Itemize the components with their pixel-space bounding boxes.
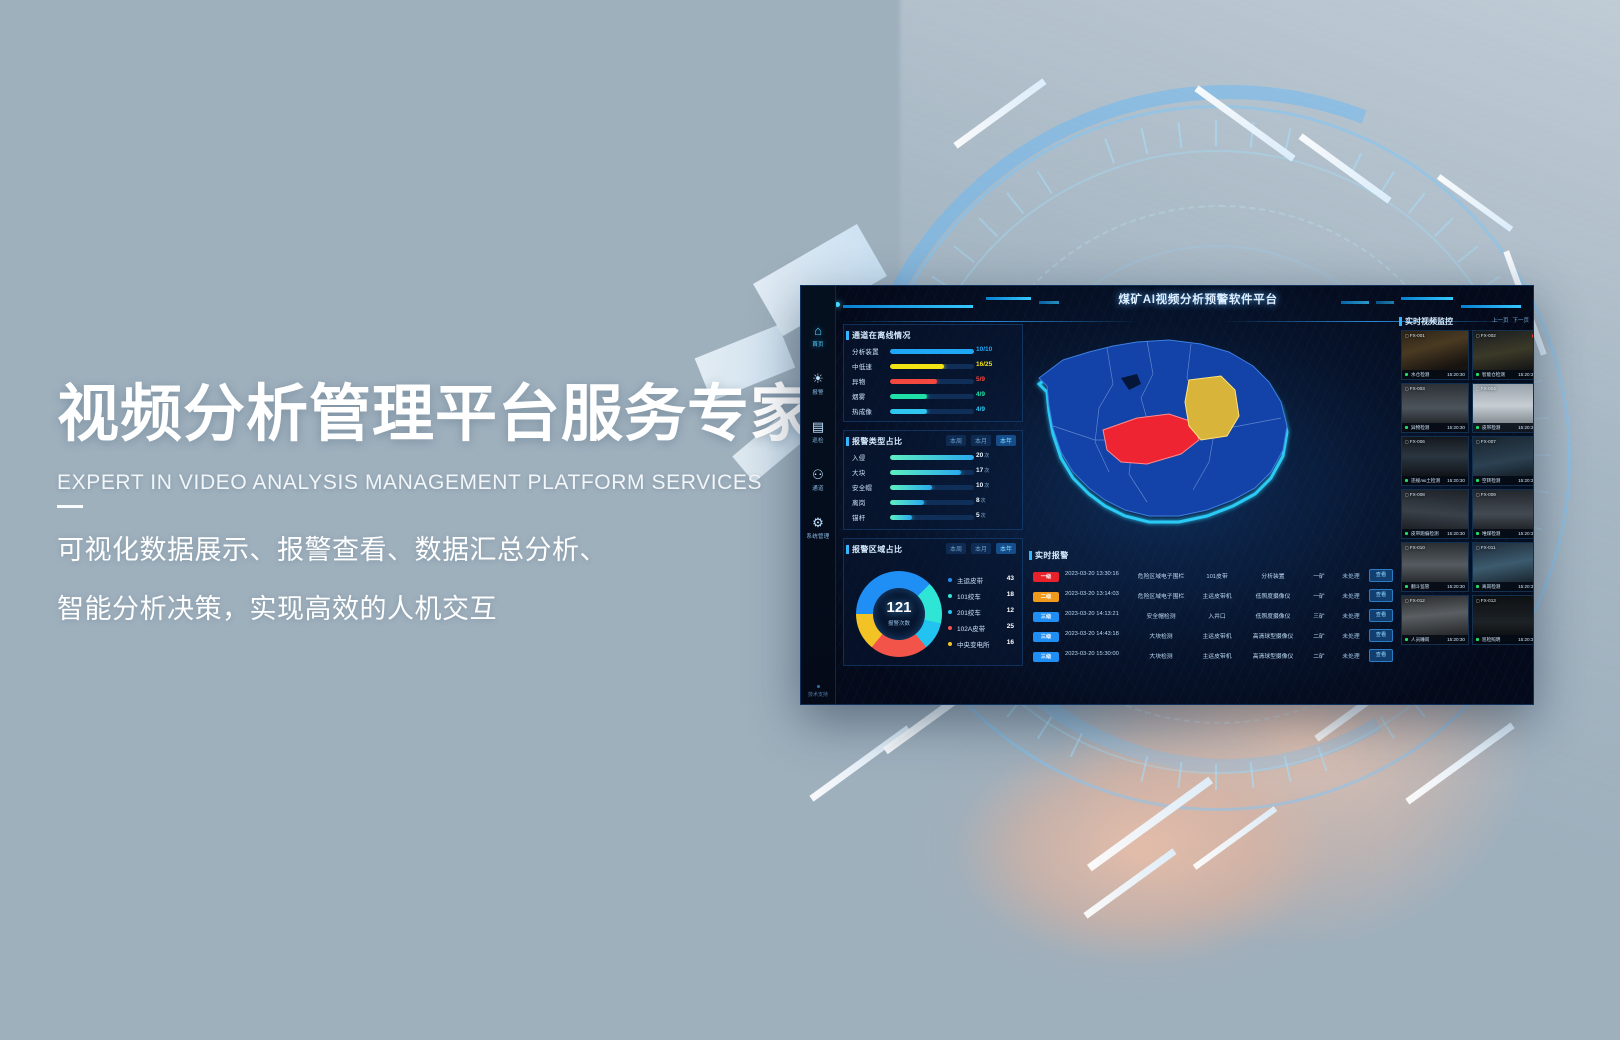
video-tile[interactable]: FX-011离岗检测15:20:30 [1472, 542, 1534, 592]
alarm-type-tabs[interactable]: 本周本月本年 [946, 435, 1016, 446]
inspection-icon: ▤ [801, 420, 835, 434]
sidebar-footer: 技术支持 [801, 685, 835, 698]
alarm-type-label: 安全帽 [852, 482, 888, 492]
video-tile-bar: 离岗检测15:20:30 [1473, 582, 1534, 591]
channel-icon: ⚇ [801, 468, 835, 482]
recording-indicator [1532, 334, 1534, 338]
table-row: 三级2023-03-20 15:30:00大块检测主运皮带机高清球型摄像仪二矿未… [1033, 648, 1385, 667]
legend-row: 主运皮带43 [948, 575, 1016, 586]
alarm-area-tabs[interactable]: 本周本月本年 [946, 543, 1016, 554]
alarm-device: 高清球型摄像仪 [1245, 651, 1301, 660]
header-line [1376, 301, 1394, 304]
online-indicator [1476, 479, 1479, 482]
header-line [1341, 301, 1369, 304]
table-row: 三级2023-03-20 14:13:21安全帽检测入井口低照度摄像仪三矿未处理… [1033, 608, 1385, 627]
legend-swatch [948, 642, 952, 646]
camera-name: 异物检测 [1411, 425, 1429, 431]
view-button[interactable]: 查看 [1369, 589, 1393, 602]
camera-id: FX-010 [1405, 545, 1425, 550]
sidebar-item-label: 首页 [801, 340, 835, 348]
realtime-alarm-title: 实时报警 [1035, 550, 1069, 561]
next-page-button[interactable]: 下一页 [1512, 316, 1529, 324]
alarm-area-panel-title: 报警区域占比 [852, 544, 902, 555]
alarm-type-row: 入侵20次 [852, 451, 1014, 463]
alarm-type-row: 离岗8次 [852, 496, 1014, 508]
alarm-type-value: 10次 [976, 482, 1014, 489]
video-tile[interactable]: FX-001水仓检测15:20:30 [1401, 330, 1469, 380]
legend-value: 16 [1007, 639, 1014, 646]
alarm-mine: 三矿 [1305, 611, 1333, 620]
camera-name: 堆煤检测 [1482, 531, 1500, 537]
camera-id: FX-008 [1405, 492, 1425, 497]
video-tile[interactable]: FX-012人员睡岗15:20:30 [1401, 595, 1469, 645]
camera-name: 水仓检测 [1411, 372, 1429, 378]
alarm-area-panel: 报警区域占比 本周本月本年 121 报警次数 主运皮带43101绞车18201绞… [843, 538, 1023, 666]
video-tile-bar: 巡检照明15:20:30 [1473, 635, 1534, 644]
legend-swatch [948, 610, 952, 614]
sidebar-item-label: 通道 [801, 484, 835, 492]
video-tile-bar: 皮带跑偏检测15:20:30 [1402, 529, 1468, 538]
table-row: 二级2023-03-20 13:14:03危险区域电子围栏主运皮带机低照度摄像仪… [1033, 588, 1385, 607]
camera-timestamp: 15:20:30 [1518, 372, 1534, 377]
alarm-type: 大块检测 [1133, 631, 1189, 640]
hero-subheadline: EXPERT IN VIDEO ANALYSIS MANAGEMENT PLAT… [57, 471, 817, 495]
alarm-status: 未处理 [1337, 631, 1365, 640]
sidebar-item-通道[interactable]: ⚇通道 [801, 468, 835, 492]
channel-bar-value: 16/25 [976, 361, 1014, 368]
video-monitor-panel: 实时视频监控 上一页 下一页 FX-001水仓检测15:20:30FX-002智… [1397, 310, 1533, 704]
legend-label: 中央变电所 [957, 639, 990, 649]
alarm-icon: ☀ [801, 372, 835, 386]
channel-bar-row: 异物5/9 [852, 375, 1014, 387]
header-line [1039, 301, 1059, 304]
tab-本年[interactable]: 本年 [996, 435, 1016, 446]
header-line [1401, 297, 1453, 300]
dashboard-title: 煤矿AI视频分析预警软件平台 [1073, 291, 1323, 307]
status-badge: 三级 [1033, 612, 1059, 622]
camera-timestamp: 15:20:30 [1447, 372, 1465, 377]
hero-headline: 视频分析管理平台服务专家 [57, 382, 817, 449]
video-tile[interactable]: FX-008皮带跑偏检测15:20:30 [1401, 489, 1469, 539]
alarm-type: 安全帽检测 [1133, 611, 1189, 620]
alarm-type-label: 入侵 [852, 452, 888, 462]
camera-timestamp: 15:20:30 [1518, 531, 1534, 536]
province-map[interactable] [1029, 322, 1319, 542]
camera-timestamp: 15:20:30 [1518, 637, 1534, 642]
map-svg [1029, 322, 1319, 542]
video-tile[interactable]: FX-007空转检测15:20:30 [1472, 436, 1534, 486]
settings-icon: ⚙ [801, 516, 835, 530]
camera-timestamp: 15:20:30 [1518, 584, 1534, 589]
camera-name: 人员睡岗 [1411, 637, 1429, 643]
hero-description-line-1: 可视化数据展示、报警查看、数据汇总分析、 [57, 528, 817, 567]
video-tile-bar: 皮带检测15:20:30 [1473, 423, 1534, 432]
realtime-alarm-table: 实时报警 一级2023-03-20 13:30:16危险区域电子围栏101皮带分… [1029, 548, 1389, 698]
alarm-type-row: 安全帽10次 [852, 481, 1014, 493]
home-icon: ⌂ [801, 324, 835, 338]
alarm-status: 未处理 [1337, 651, 1365, 660]
online-indicator [1405, 479, 1408, 482]
status-badge: 二级 [1033, 592, 1059, 602]
status-badge: 三级 [1033, 652, 1059, 662]
alarm-type-track [890, 500, 974, 505]
tab-本周[interactable]: 本周 [946, 543, 966, 554]
status-badge: 三级 [1033, 632, 1059, 642]
channel-bar-row: 烟雾4/9 [852, 390, 1014, 402]
header-line [843, 305, 973, 308]
sidebar-item-巡检[interactable]: ▤巡检 [801, 420, 835, 444]
channel-panel-title: 通道在离线情况 [852, 330, 911, 341]
alarm-type-value: 5次 [976, 512, 1014, 519]
channel-status-panel: 通道在离线情况 分析装置10/10中低速16/25异物5/9烟雾4/9热成像4/… [843, 324, 1023, 422]
header-line [1461, 305, 1521, 308]
alarm-type: 大块检测 [1133, 651, 1189, 660]
channel-bar-value: 4/9 [976, 391, 1014, 398]
video-monitor-title: 实时视频监控 [1405, 316, 1453, 327]
online-indicator [1476, 373, 1479, 376]
alarm-type-track [890, 485, 974, 490]
camera-timestamp: 15:20:30 [1447, 637, 1465, 642]
alarm-location: 主运皮带机 [1193, 591, 1241, 600]
camera-id: FX-009 [1476, 492, 1496, 497]
dashboard-screenshot: 煤矿AI视频分析预警软件平台 ⌂首页☀报警▤巡检⚇通道⚙系统管理 技术支持 通道… [800, 285, 1534, 705]
online-indicator [1476, 426, 1479, 429]
channel-bar-track [890, 409, 974, 414]
camera-name: 翻斗监管 [1411, 584, 1429, 590]
alarm-time: 2023-03-20 14:43:18 [1065, 631, 1127, 637]
video-tile-bar: 违规лю土检测15:20:30 [1402, 476, 1468, 485]
alarm-type-panel: 报警类型占比 本周本月本年 入侵20次大块17次安全帽10次离岗8次锚杆5次 [843, 430, 1023, 530]
alarm-type-label: 大块 [852, 467, 888, 477]
video-tile-bar: 堆煤检测15:20:30 [1473, 529, 1534, 538]
video-tile[interactable]: FX-010翻斗监管15:20:30 [1401, 542, 1469, 592]
alarm-type-label: 锚杆 [852, 512, 888, 522]
legend-label: 102A皮带 [957, 623, 985, 633]
alarm-device: 分析装置 [1245, 571, 1301, 580]
channel-bar-value: 10/10 [976, 346, 1014, 353]
tab-本月[interactable]: 本月 [971, 435, 991, 446]
hero-divider [57, 505, 83, 508]
camera-id: FX-003 [1405, 386, 1425, 391]
view-button[interactable]: 查看 [1369, 649, 1393, 662]
channel-bar-label: 分析装置 [852, 346, 888, 356]
channel-bar-track [890, 349, 974, 354]
legend-value: 25 [1007, 623, 1014, 630]
legend-row: 101绞车18 [948, 591, 1016, 602]
table-row: 三级2023-03-20 14:43:18大块检测主运皮带机高清球型摄像仪二矿未… [1033, 628, 1385, 647]
camera-timestamp: 15:20:30 [1447, 584, 1465, 589]
alarm-device: 高清球型摄像仪 [1245, 631, 1301, 640]
alarm-type-value: 17次 [976, 467, 1014, 474]
alarm-mine: 二矿 [1305, 631, 1333, 640]
channel-bar-value: 4/9 [976, 406, 1014, 413]
online-indicator [1476, 638, 1479, 641]
table-row: 一级2023-03-20 13:30:16危险区域电子围栏101皮带分析装置一矿… [1033, 568, 1385, 587]
alarm-location: 入井口 [1193, 611, 1241, 620]
camera-timestamp: 15:20:30 [1447, 425, 1465, 430]
video-tile[interactable]: FX-009堆煤检测15:20:30 [1472, 489, 1534, 539]
channel-bar-track [890, 394, 974, 399]
channel-bar-row: 热成像4/9 [852, 405, 1014, 417]
alarm-time: 2023-03-20 13:14:03 [1065, 591, 1127, 597]
view-button[interactable]: 查看 [1369, 569, 1393, 582]
online-indicator [1405, 532, 1408, 535]
alarm-type-track [890, 515, 974, 520]
alarm-location: 主运皮带机 [1193, 631, 1241, 640]
camera-id: FX-002 [1476, 333, 1496, 338]
legend-value: 43 [1007, 575, 1014, 582]
camera-name: 违规лю土检测 [1411, 478, 1440, 484]
video-tile[interactable]: FX-002智能仓检测15:20:30 [1472, 330, 1534, 380]
alarm-type-label: 离岗 [852, 497, 888, 507]
alarm-type-panel-title: 报警类型占比 [852, 436, 902, 447]
alarm-type: 危险区域电子围栏 [1133, 591, 1189, 600]
sidebar-item-label: 报警 [801, 388, 835, 396]
alarm-mine: 一矿 [1305, 591, 1333, 600]
online-indicator [1405, 426, 1408, 429]
alarm-type-value: 8次 [976, 497, 1014, 504]
online-indicator [1405, 638, 1408, 641]
camera-name: 皮带跑偏检测 [1411, 531, 1439, 537]
camera-id: FX-004 [1476, 386, 1496, 391]
channel-bar-label: 烟雾 [852, 391, 888, 401]
camera-name: 离岗检测 [1482, 584, 1500, 590]
legend-row: 102A皮带25 [948, 623, 1016, 634]
channel-bar-track [890, 379, 974, 384]
video-tile[interactable]: FX-004皮带检测15:20:30 [1472, 383, 1534, 433]
hero-description-line-2: 智能分析决策，实现高效的人机交互 [57, 587, 817, 626]
camera-timestamp: 15:20:30 [1447, 531, 1465, 536]
video-tile[interactable]: FX-006违规лю土检测15:20:30 [1401, 436, 1469, 486]
legend-label: 201绞车 [957, 607, 981, 617]
alarm-type-value: 20次 [976, 452, 1014, 459]
legend-row: 201绞车12 [948, 607, 1016, 618]
channel-bar-label: 异物 [852, 376, 888, 386]
alarm-time: 2023-03-20 15:30:00 [1065, 651, 1127, 657]
alarm-type-track [890, 470, 974, 475]
alarm-type-row: 大块17次 [852, 466, 1014, 478]
channel-bar-label: 中低速 [852, 361, 888, 371]
status-badge: 一级 [1033, 572, 1059, 582]
donut-center-caption: 报警次数 [856, 619, 942, 627]
camera-id: FX-006 [1405, 439, 1425, 444]
header-line [986, 297, 1031, 300]
camera-timestamp: 15:20:30 [1518, 425, 1534, 430]
legend-swatch [948, 594, 952, 598]
alarm-time: 2023-03-20 14:13:21 [1065, 611, 1127, 617]
online-indicator [1405, 373, 1408, 376]
alarm-mine: 一矿 [1305, 571, 1333, 580]
video-tile[interactable]: FX-013巡检照明15:20:30 [1472, 595, 1534, 645]
channel-bar-label: 热成像 [852, 406, 888, 416]
donut-center-value: 121 [856, 599, 942, 616]
video-tile-bar: 智能仓检测15:20:30 [1473, 370, 1534, 379]
online-indicator [1405, 585, 1408, 588]
view-button[interactable]: 查看 [1369, 629, 1393, 642]
online-indicator [1476, 532, 1479, 535]
camera-id: FX-013 [1476, 598, 1496, 603]
tab-本月[interactable]: 本月 [971, 543, 991, 554]
alarm-type-track [890, 455, 974, 460]
prev-page-button[interactable]: 上一页 [1492, 316, 1509, 324]
camera-id: FX-001 [1405, 333, 1425, 338]
alarm-status: 未处理 [1337, 611, 1365, 620]
camera-id: FX-012 [1405, 598, 1425, 603]
alarm-location: 主运皮带机 [1193, 651, 1241, 660]
alarm-status: 未处理 [1337, 591, 1365, 600]
legend-label: 101绞车 [957, 591, 981, 601]
alarm-type: 危险区域电子围栏 [1133, 571, 1189, 580]
legend-swatch [948, 578, 952, 582]
video-tile-bar: 翻斗监管15:20:30 [1402, 582, 1468, 591]
channel-bar-row: 分析装置10/10 [852, 345, 1014, 357]
tab-本周[interactable]: 本周 [946, 435, 966, 446]
legend-value: 18 [1007, 591, 1014, 598]
camera-name: 皮带检测 [1482, 425, 1500, 431]
online-indicator [1476, 585, 1479, 588]
legend-value: 12 [1007, 607, 1014, 614]
camera-name: 巡检照明 [1482, 637, 1500, 643]
sidebar-item-label: 系统管理 [801, 532, 835, 540]
camera-timestamp: 15:20:30 [1518, 478, 1534, 483]
sidebar-item-首页[interactable]: ⌂首页 [801, 324, 835, 348]
channel-bar-row: 中低速16/25 [852, 360, 1014, 372]
alarm-location: 101皮带 [1193, 571, 1241, 580]
view-button[interactable]: 查看 [1369, 609, 1393, 622]
dashboard-sidebar: ⌂首页☀报警▤巡检⚇通道⚙系统管理 技术支持 [801, 286, 836, 704]
alarm-device: 低照度摄像仪 [1245, 591, 1301, 600]
alarm-device: 低照度摄像仪 [1245, 611, 1301, 620]
camera-name: 空转检测 [1482, 478, 1500, 484]
video-tile[interactable]: FX-003异物检测15:20:30 [1401, 383, 1469, 433]
legend-label: 主运皮带 [957, 575, 983, 585]
alarm-time: 2023-03-20 13:30:16 [1065, 571, 1127, 577]
camera-timestamp: 15:20:30 [1447, 478, 1465, 483]
camera-id: FX-007 [1476, 439, 1496, 444]
hero-text-block: 视频分析管理平台服务专家 EXPERT IN VIDEO ANALYSIS MA… [57, 382, 817, 626]
video-tile-bar: 水仓检测15:20:30 [1402, 370, 1468, 379]
sidebar-item-label: 巡检 [801, 436, 835, 444]
sidebar-item-系统管理[interactable]: ⚙系统管理 [801, 516, 835, 540]
video-pagination[interactable]: 上一页 下一页 [1492, 316, 1529, 324]
legend-row: 中央变电所16 [948, 639, 1016, 650]
camera-name: 智能仓检测 [1482, 372, 1505, 378]
sidebar-item-报警[interactable]: ☀报警 [801, 372, 835, 396]
alarm-type-row: 锚杆5次 [852, 511, 1014, 523]
video-tile-bar: 人员睡岗15:20:30 [1402, 635, 1468, 644]
alarm-mine: 二矿 [1305, 651, 1333, 660]
legend-swatch [948, 626, 952, 630]
channel-bar-value: 5/9 [976, 376, 1014, 383]
video-tile-bar: 异物检测15:20:30 [1402, 423, 1468, 432]
video-tile-bar: 空转检测15:20:30 [1473, 476, 1534, 485]
tab-本年[interactable]: 本年 [996, 543, 1016, 554]
map-highlight-yellow[interactable] [1185, 376, 1239, 440]
alarm-status: 未处理 [1337, 571, 1365, 580]
camera-id: FX-011 [1476, 545, 1496, 550]
channel-bar-track [890, 364, 974, 369]
alarm-area-donut-chart: 121 报警次数 [856, 571, 942, 657]
